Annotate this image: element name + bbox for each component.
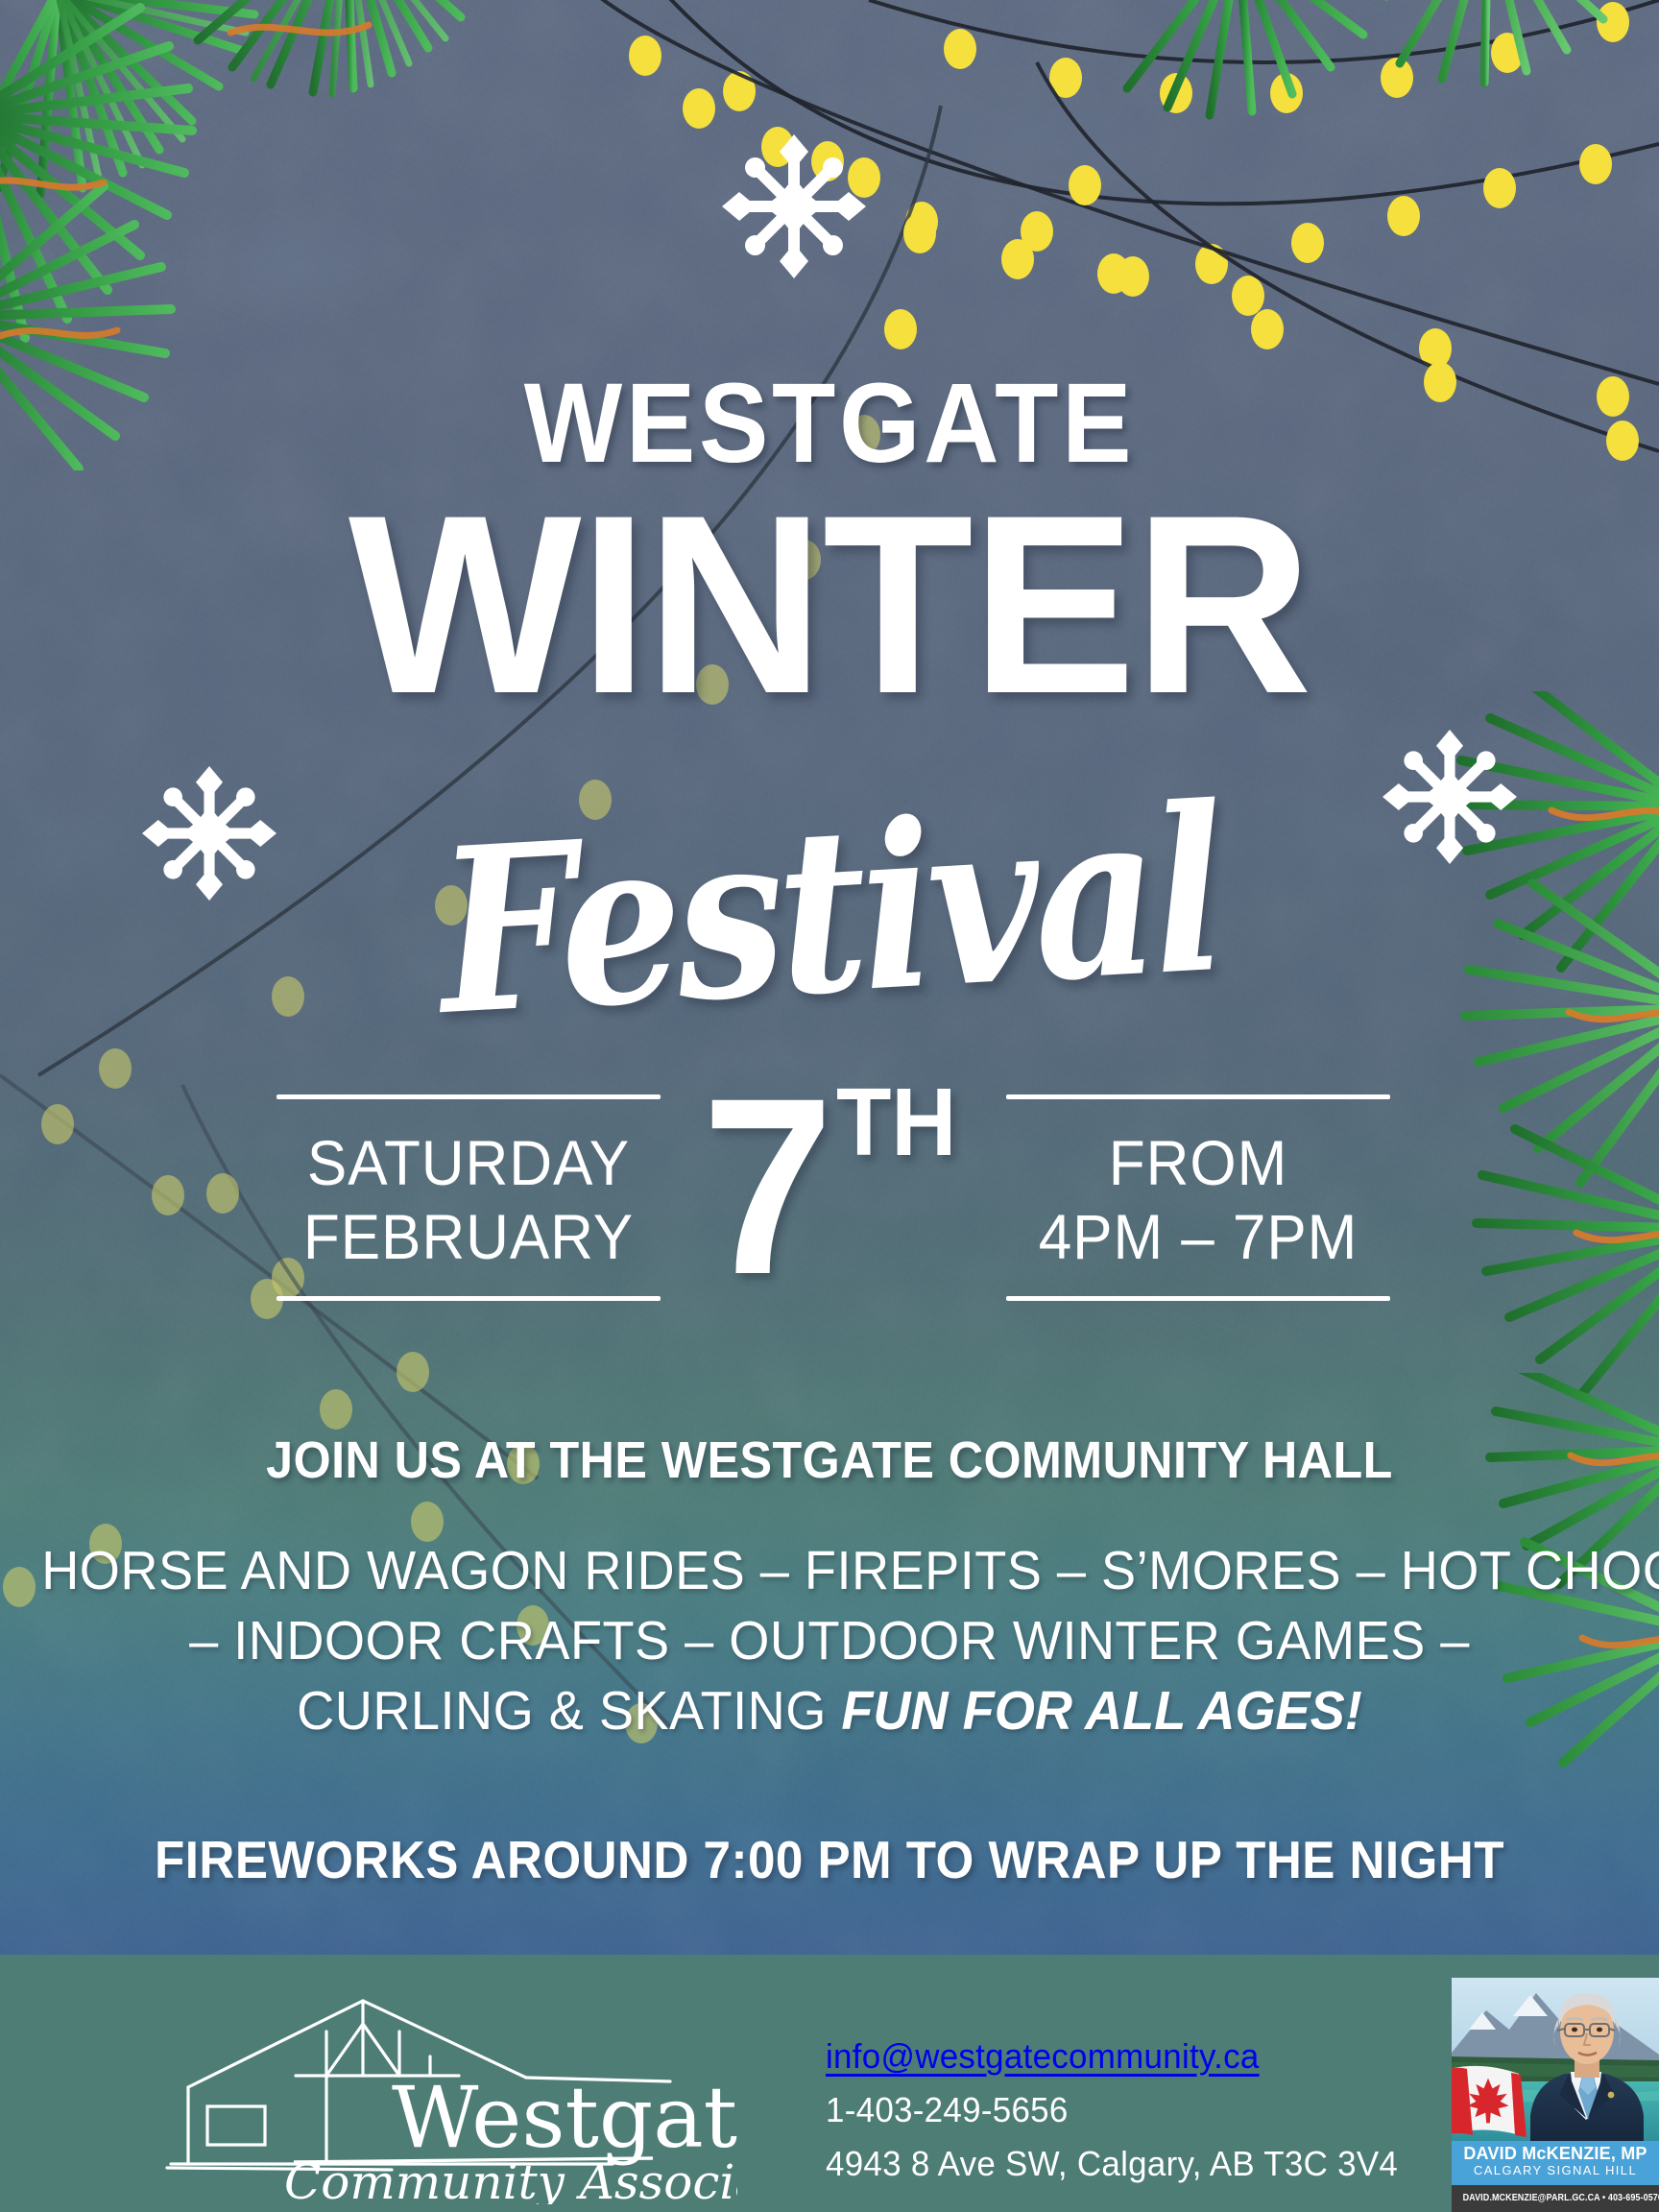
westgate-logo: Westgate Community Association — [75, 1964, 737, 2204]
sponsor-contact: DAVID.MCKENZIE@PARL.GC.CA • 403-695-0570 — [1463, 2185, 1659, 2212]
contact-phone[interactable]: 1-403-249-5656 — [826, 2083, 1398, 2137]
date-day-number: 7 — [703, 1061, 829, 1312]
activities-line-2: – INDOOR CRAFTS – OUTDOOR WINTER GAMES – — [41, 1606, 1618, 1676]
activities-line-3: CURLING & SKATING FUN FOR ALL AGES! — [41, 1676, 1618, 1746]
contact-block: info@westgatecommunity.ca 1-403-249-5656… — [826, 2030, 1398, 2191]
footer-band: Westgate Community Association info@west… — [0, 1955, 1659, 2212]
contact-email[interactable]: info@westgatecommunity.ca — [826, 2030, 1260, 2083]
sponsor-name: DAVID McKENZIE, MP — [1452, 2145, 1659, 2163]
sponsor-riding: CALGARY SIGNAL HILL — [1452, 2163, 1659, 2178]
activities-emphasis: FUN FOR ALL AGES! — [841, 1680, 1361, 1742]
invited-kicker — [0, 27, 1659, 219]
sponsor-card-david-mckenzie[interactable]: DAVID McKENZIE, MP CALGARY SIGNAL HILL D… — [1452, 1978, 1659, 2212]
fireworks-line: FIREWORKS AROUND 7:00 PM TO WRAP UP THE … — [58, 1829, 1600, 1890]
title-line-winter: WINTER — [25, 478, 1634, 733]
sponsor-name-band: DAVID McKENZIE, MP CALGARY SIGNAL HILL — [1452, 2141, 1659, 2185]
logo-name: Westgate — [392, 2068, 737, 2167]
date-day-number-block: 7TH — [0, 1061, 1659, 1312]
sponsor-photo — [1452, 1978, 1659, 2141]
activities-line-3-text: CURLING & SKATING — [297, 1680, 841, 1742]
date-day-ordinal: TH — [836, 1074, 956, 1170]
venue-line: JOIN US AT THE WESTGATE COMMUNITY HALL — [58, 1431, 1600, 1490]
contact-address: 4943 8 Ave SW, Calgary, AB T3C 3V4 — [826, 2137, 1398, 2191]
activities-line-1: HORSE AND WAGON RIDES – FIREPITS – S’MOR… — [41, 1536, 1618, 1606]
winter-festival-poster: WESTGATE WINTER Festival SATURDAY FEBRUA… — [0, 0, 1659, 2212]
title-script-festival: Festival — [0, 753, 1659, 1071]
sponsor-contact-band: DAVID.MCKENZIE@PARL.GC.CA • 403-695-0570 — [1452, 2185, 1659, 2212]
activities-list: HORSE AND WAGON RIDES – FIREPITS – S’MOR… — [41, 1536, 1618, 1746]
